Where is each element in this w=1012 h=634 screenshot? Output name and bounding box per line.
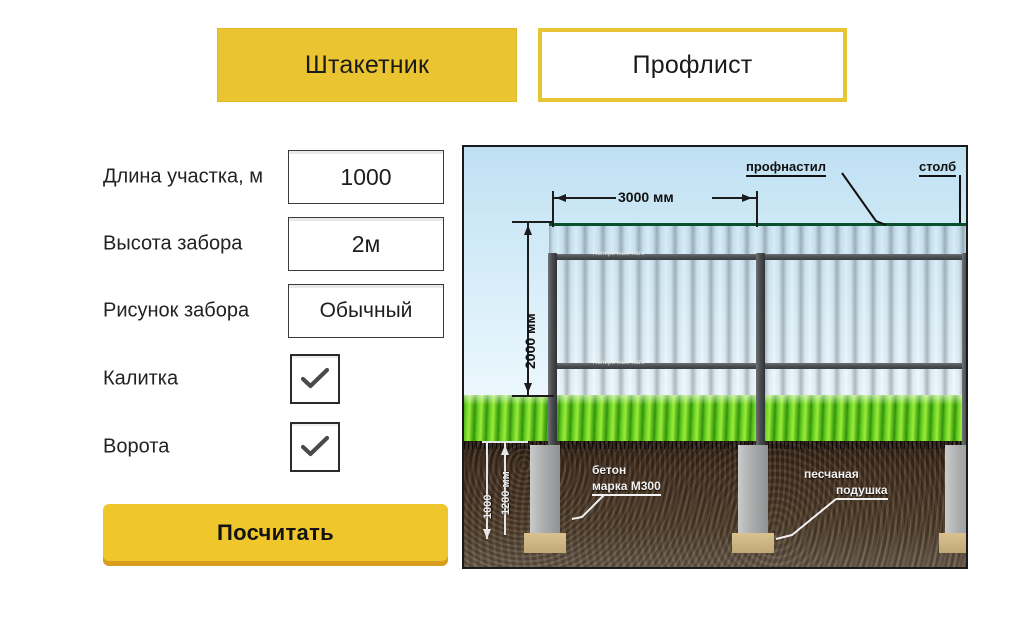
tab-bar: Штакетник Профлист — [0, 0, 1012, 130]
callout-concrete-line1: бетон — [592, 463, 626, 478]
select-fence-height[interactable]: 2м — [288, 217, 444, 271]
check-icon — [300, 435, 330, 459]
rail-upper-label: Поперечные лаги — [593, 251, 645, 257]
footing-right-concrete — [945, 445, 968, 533]
label-gate: Ворота — [103, 436, 169, 459]
form-row-pattern: Рисунок забора Обычный — [0, 284, 460, 338]
callout-profnastil-label: профнастил — [746, 159, 826, 177]
label-fence-height: Высота забора — [103, 233, 242, 256]
callout-stolb-leader — [946, 175, 968, 227]
input-plot-length[interactable]: 1000 — [288, 150, 444, 204]
dim-depth-1200-label: 1200 мм — [500, 471, 512, 515]
callout-concrete-line2: марка М300 — [592, 479, 661, 496]
rail-lower-label: Поперечные лаги — [593, 360, 645, 366]
tab-shtaketnik-label: Штакетник — [305, 51, 429, 80]
fence-diagram: Поперечные лаги Поперечные лаги 3000 мм — [462, 145, 968, 569]
calculator-form: Длина участка, м 1000 Высота забора 2м Р… — [0, 130, 460, 634]
select-fence-height-value: 2м — [352, 231, 381, 258]
select-fence-pattern-value: Обычный — [320, 299, 413, 323]
callout-sand-line1: песчаная — [804, 467, 859, 482]
check-icon — [300, 367, 330, 391]
form-row-gate: Ворота — [0, 420, 460, 474]
label-wicket: Калитка — [103, 368, 178, 391]
label-fence-pattern: Рисунок забора — [103, 300, 249, 323]
callout-profnastil-leader — [746, 173, 886, 229]
sandbed-left — [524, 533, 566, 553]
callout-concrete-leader — [568, 495, 604, 523]
tab-proflist[interactable]: Профлист — [538, 28, 847, 102]
dim-span-label: 3000 мм — [618, 189, 674, 205]
footing-middle-concrete — [738, 445, 768, 533]
checkbox-wicket[interactable] — [290, 354, 340, 404]
form-row-wicket: Калитка — [0, 352, 460, 406]
callout-sand-line2: подушка — [836, 483, 888, 500]
callout-sand-leader — [770, 499, 840, 543]
form-row-height: Высота забора 2м — [0, 217, 460, 271]
tab-shtaketnik[interactable]: Штакетник — [217, 28, 517, 102]
dim-height-arrows — [520, 221, 538, 399]
dim-height-label: 2000 мм — [522, 313, 538, 369]
form-row-length: Длина участка, м 1000 — [0, 150, 460, 204]
callout-stolb-label: столб — [919, 159, 956, 177]
tab-proflist-label: Профлист — [633, 51, 753, 80]
sandbed-middle — [732, 533, 774, 553]
select-fence-pattern[interactable]: Обычный — [288, 284, 444, 338]
calculate-button[interactable]: Посчитать — [103, 504, 448, 561]
grass-strip — [464, 395, 966, 441]
dim-depth-1000-label: 1000 — [482, 495, 494, 519]
footing-left-concrete — [530, 445, 560, 533]
input-plot-length-value: 1000 — [340, 164, 391, 191]
checkbox-gate[interactable] — [290, 422, 340, 472]
sandbed-right — [939, 533, 968, 553]
label-plot-length: Длина участка, м — [103, 166, 263, 189]
